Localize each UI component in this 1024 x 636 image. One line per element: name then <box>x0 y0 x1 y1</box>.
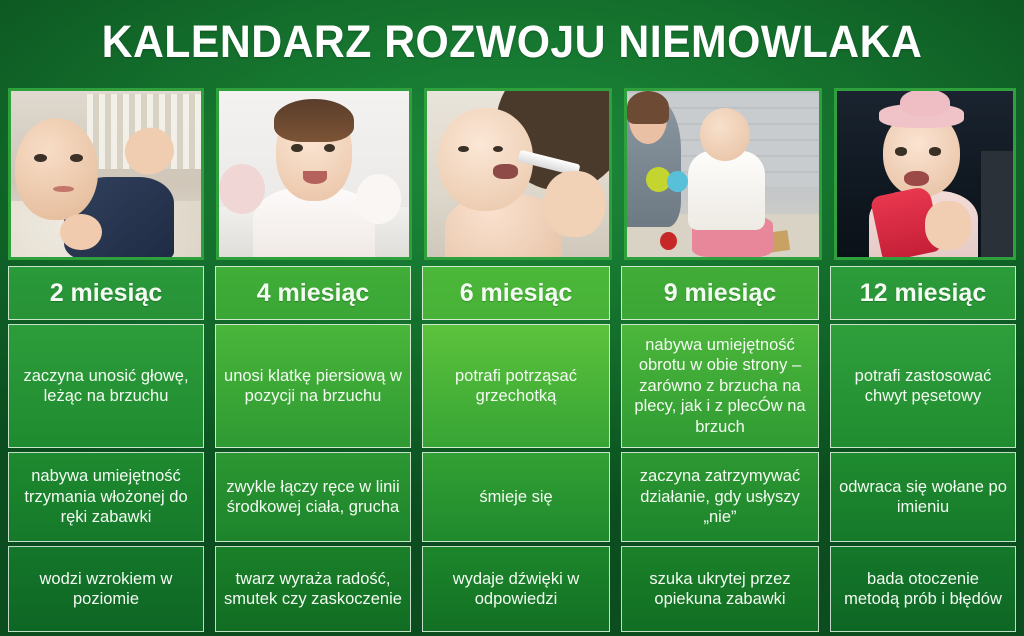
milestone-cell: zaczyna unosić głowę, leżąc na brzuchu <box>8 324 204 448</box>
column-header-12-months: 12 miesiąc <box>830 266 1016 320</box>
milestone-cell: śmieje się <box>422 452 610 542</box>
photo-6-months <box>424 88 612 260</box>
milestone-cell: unosi klatkę piersiową w pozycji na brzu… <box>215 324 411 448</box>
milestone-cell: nabywa umiejętność trzymania włożonej do… <box>8 452 204 542</box>
baby-photo-illustration <box>627 91 819 257</box>
milestone-table: 2 miesiąc zaczyna unosić głowę, leżąc na… <box>8 266 1016 628</box>
column-12-months: 12 miesiąc potrafi zastosować chwyt pęse… <box>830 266 1016 628</box>
milestone-cell: potrafi potrząsać grzechotką <box>422 324 610 448</box>
photo-12-months <box>834 88 1016 260</box>
column-9-months: 9 miesiąc nabywa umiejętność obrotu w ob… <box>621 266 819 628</box>
column-4-months: 4 miesiąc unosi klatkę piersiową w pozyc… <box>215 266 411 628</box>
photo-2-months <box>8 88 204 260</box>
column-6-months: 6 miesiąc potrafi potrząsać grzechotką ś… <box>422 266 610 628</box>
column-header-2-months: 2 miesiąc <box>8 266 204 320</box>
column-header-6-months: 6 miesiąc <box>422 266 610 320</box>
milestone-cell: odwraca się wołane po imieniu <box>830 452 1016 542</box>
milestone-cell: nabywa umiejętność obrotu w obie strony … <box>621 324 819 448</box>
baby-photo-illustration <box>427 91 609 257</box>
photo-row <box>8 88 1016 260</box>
photo-4-months <box>216 88 412 260</box>
column-header-4-months: 4 miesiąc <box>215 266 411 320</box>
milestone-cell: szuka ukrytej przez opiekuna zabawki <box>621 546 819 632</box>
milestone-cell: twarz wyraża radość, smutek czy zaskocze… <box>215 546 411 632</box>
column-header-9-months: 9 miesiąc <box>621 266 819 320</box>
milestone-cell: zaczyna zatrzymywać działanie, gdy usłys… <box>621 452 819 542</box>
baby-photo-illustration <box>11 91 201 257</box>
milestone-cell: wodzi wzrokiem w poziomie <box>8 546 204 632</box>
milestone-cell: potrafi zastosować chwyt pęsetowy <box>830 324 1016 448</box>
baby-photo-illustration <box>837 91 1013 257</box>
milestone-cell: bada otoczenie metodą prób i błędów <box>830 546 1016 632</box>
title-band: KALENDARZ ROZWOJU NIEMOWLAKA <box>0 0 1024 82</box>
milestone-cell: zwykle łączy ręce w linii środkowej ciał… <box>215 452 411 542</box>
baby-photo-illustration <box>219 91 409 257</box>
page-title: KALENDARZ ROZWOJU NIEMOWLAKA <box>102 19 923 64</box>
photo-9-months <box>624 88 822 260</box>
column-2-months: 2 miesiąc zaczyna unosić głowę, leżąc na… <box>8 266 204 628</box>
milestone-cell: wydaje dźwięki w odpowiedzi <box>422 546 610 632</box>
infographic-root: KALENDARZ ROZWOJU NIEMOWLAKA <box>0 0 1024 636</box>
